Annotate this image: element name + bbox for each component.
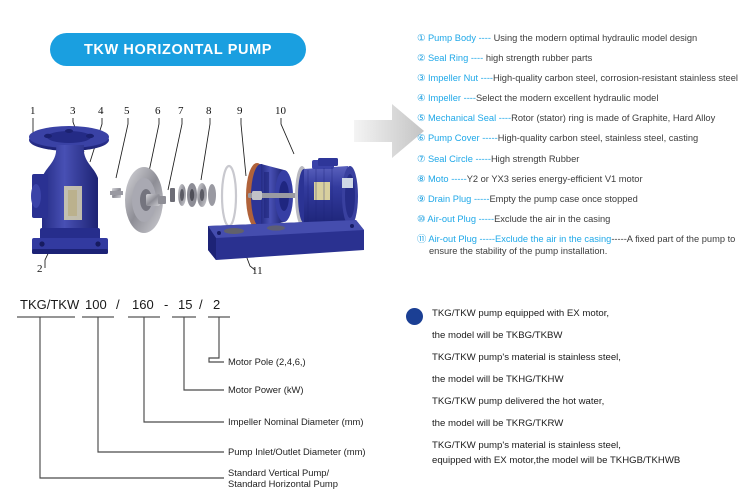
- bullet-dot-icon: [406, 308, 423, 325]
- legend-item: ⑩ Air-out Plug -----Exclude the air in t…: [417, 214, 753, 225]
- legend-item: ⑤ Mechanical Seal ----Rotor (stator) rin…: [417, 113, 753, 124]
- legend-sep: -----: [473, 154, 491, 164]
- legend-part-name: Pump Cover: [428, 133, 480, 143]
- legend-item: ④ Impeller ----Select the modern excelle…: [417, 93, 753, 104]
- page-root: TKW HORIZONTAL PUMP: [0, 0, 756, 500]
- code-pole: 2: [213, 297, 220, 312]
- svg-text:5: 5: [124, 105, 130, 117]
- legend-part-name: Air-out Plug -----Exclude the air in the…: [428, 234, 611, 244]
- naming-line: equipped with EX motor,the model will be…: [432, 455, 680, 466]
- svg-text:/: /: [199, 297, 203, 312]
- legend-part-name: Mechanical Seal: [428, 113, 496, 123]
- legend-item: ⑧ Moto -----Y2 or YX3 series energy-effi…: [417, 174, 753, 185]
- nomenclature-label-inlet-dia: Pump Inlet/Outlet Diameter (mm): [228, 446, 366, 457]
- model-naming-notes: TKG/TKW pump equipped with EX motor, the…: [400, 300, 756, 490]
- legend-part-name: Pump Body: [428, 33, 476, 43]
- legend-item: ③ Impeller Nut ----High-quality carbon s…: [417, 73, 753, 84]
- legend-sep: ----: [461, 93, 476, 103]
- legend-sep: -----: [449, 174, 467, 184]
- legend-desc: Exclude the air in the casing: [494, 214, 610, 224]
- parts-legend: ① Pump Body ---- Using the modern optima…: [417, 33, 753, 266]
- legend-part-name: Seal Ring: [428, 53, 468, 63]
- naming-line: the model will be TKRG/TKRW: [432, 418, 563, 429]
- legend-item: ① Pump Body ---- Using the modern optima…: [417, 33, 753, 44]
- svg-text:10: 10: [275, 105, 287, 117]
- pump-exploded-diagram: 1 3 4 5 6 7 8 9 10 2 11: [12, 100, 372, 290]
- legend-sep: -----: [480, 133, 498, 143]
- legend-num: ⑨: [417, 194, 425, 204]
- legend-part-name: Drain Plug: [428, 194, 471, 204]
- legend-item: ⑨ Drain Plug -----Empty the pump case on…: [417, 194, 753, 205]
- svg-text:9: 9: [237, 105, 243, 117]
- title-banner-label: TKW HORIZONTAL PUMP: [84, 42, 272, 58]
- svg-text:8: 8: [206, 105, 212, 117]
- legend-desc: Using the modern optimal hydraulic model…: [494, 33, 698, 43]
- code-prefix: TKG/TKW: [20, 297, 80, 312]
- legend-desc: A fixed part of the pump to: [627, 234, 736, 244]
- legend-part-name: Seal Circle: [428, 154, 473, 164]
- svg-text:3: 3: [70, 105, 76, 117]
- svg-text:2: 2: [37, 263, 43, 275]
- legend-num: ⑦: [417, 154, 425, 164]
- legend-item-11: ⑪ Air-out Plug -----Exclude the air in t…: [417, 234, 753, 257]
- legend-num: ⑥: [417, 133, 425, 143]
- legend-sep: -----: [476, 214, 494, 224]
- legend-num: ①: [417, 33, 425, 43]
- title-banner: TKW HORIZONTAL PUMP: [50, 33, 306, 66]
- legend-part-name: Moto: [428, 174, 449, 184]
- svg-text:4: 4: [98, 105, 104, 117]
- svg-text:1: 1: [30, 105, 36, 117]
- legend-num: ⑧: [417, 174, 425, 184]
- naming-line: the model will be TKBG/TKBW: [432, 330, 562, 341]
- legend-desc: Y2 or YX3 series energy-efficient V1 mot…: [467, 174, 643, 184]
- legend-sep: -----: [611, 234, 626, 244]
- legend-desc: High-quality carbon steel, corrosion-res…: [493, 73, 738, 83]
- legend-item: ⑥ Pump Cover -----High-quality carbon st…: [417, 133, 753, 144]
- legend-desc: Empty the pump case once stopped: [489, 194, 637, 204]
- model-nomenclature-diagram: TKG/TKW 100 / 160 - 15 / 2: [12, 296, 402, 496]
- legend-part-name: Air-out Plug: [427, 214, 476, 224]
- naming-line: TKG/TKW pump equipped with EX motor,: [432, 308, 609, 319]
- legend-desc: Select the modern excellent hydraulic mo…: [476, 93, 658, 103]
- nomenclature-label-impeller-dia: Impeller Nominal Diameter (mm): [228, 416, 363, 427]
- legend-num: ③: [417, 73, 425, 83]
- legend-num: ⑤: [417, 113, 425, 123]
- legend-sep: ----: [478, 73, 493, 83]
- svg-text:11: 11: [252, 265, 263, 277]
- code-impeller: 160: [132, 297, 154, 312]
- nomenclature-label-motor-pole: Motor Pole (2,4,6,): [228, 356, 306, 367]
- naming-line: TKG/TKW pump's material is stainless ste…: [432, 352, 621, 363]
- legend-part-name: Impeller Nut: [428, 73, 478, 83]
- legend-sep: ----: [476, 33, 494, 43]
- nomenclature-label-standard-1: Standard Vertical Pump/: [228, 467, 329, 478]
- legend-desc: High strength Rubber: [491, 154, 579, 164]
- code-inlet: 100: [85, 297, 107, 312]
- naming-line: TKG/TKW pump delivered the hot water,: [432, 396, 604, 407]
- legend-sep: ----: [496, 113, 511, 123]
- legend-desc: High-quality carbon steel, stainless ste…: [498, 133, 699, 143]
- naming-line: the model will be TKHG/TKHW: [432, 374, 564, 385]
- legend-num: ⑪: [417, 234, 426, 244]
- legend-part-name: Impeller: [428, 93, 461, 103]
- svg-text:7: 7: [178, 105, 184, 117]
- legend-desc: high strength rubber parts: [486, 53, 592, 63]
- svg-text:/: /: [116, 297, 120, 312]
- nomenclature-label-standard-2: Standard Horizontal Pump: [228, 478, 338, 489]
- legend-desc-line2: ensure the stability of the pump install…: [417, 246, 753, 257]
- legend-item: ⑦ Seal Circle -----High strength Rubber: [417, 154, 753, 165]
- legend-sep: -----: [471, 194, 489, 204]
- legend-sep: ----: [468, 53, 486, 63]
- naming-line: TKG/TKW pump's material is stainless ste…: [432, 440, 621, 451]
- svg-text:6: 6: [155, 105, 161, 117]
- legend-desc: Rotor (stator) ring is made of Graphite,…: [511, 113, 715, 123]
- code-power: 15: [178, 297, 192, 312]
- legend-item: ② Seal Ring ---- high strength rubber pa…: [417, 53, 753, 64]
- legend-num: ②: [417, 53, 425, 63]
- nomenclature-label-motor-power: Motor Power (kW): [228, 384, 304, 395]
- svg-text:-: -: [164, 297, 168, 312]
- legend-num: ④: [417, 93, 425, 103]
- legend-num: ⑩: [417, 214, 425, 224]
